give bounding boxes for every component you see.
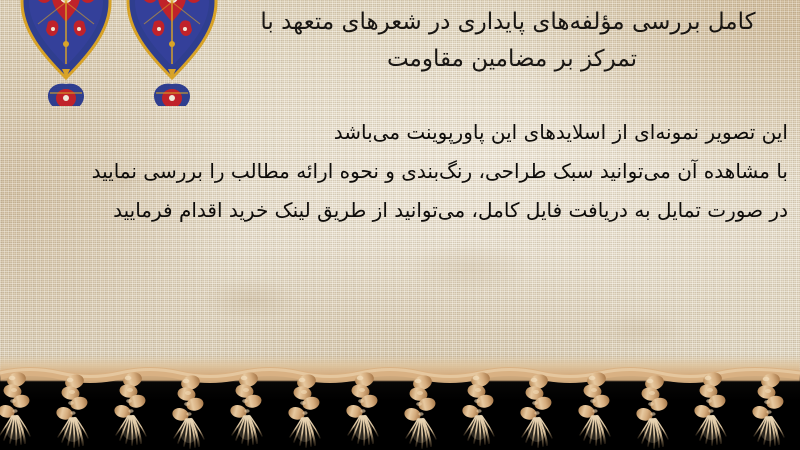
slide-body-text: این تصویر نمونه‌ای از اسلایدهای این پاور… — [0, 113, 790, 230]
slide-body-line-2: با مشاهده آن می‌توانید سبک طراحی، رنگ‌بن… — [0, 152, 790, 191]
slide-body-line-3: در صورت تمایل به دریافت فایل کامل، می‌تو… — [0, 191, 790, 230]
carpet-fringe-tassels — [0, 355, 800, 450]
slide-title-line-2: تمرکز بر مضامین مقاومت — [228, 41, 796, 78]
presentation-slide: کامل بررسی مؤلفه‌های پایداری در شعرهای م… — [0, 0, 800, 450]
slide-title-line-1: کامل بررسی مؤلفه‌های پایداری در شعرهای م… — [228, 4, 788, 41]
fringe-tassel-group — [0, 355, 800, 450]
slide-body-line-1: این تصویر نمونه‌ای از اسلایدهای این پاور… — [0, 113, 790, 152]
slide-title: کامل بررسی مؤلفه‌های پایداری در شعرهای م… — [228, 4, 788, 79]
slide-text-layer: کامل بررسی مؤلفه‌های پایداری در شعرهای م… — [0, 0, 800, 392]
